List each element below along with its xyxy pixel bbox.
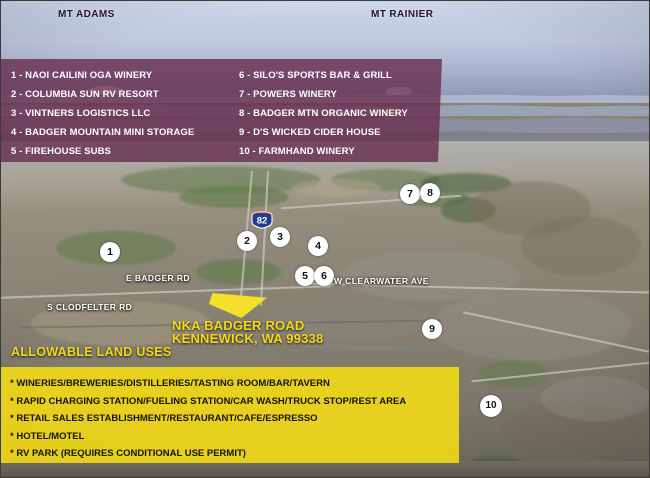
legend-panel: 1 - NAOI CAILINI OGA WINERY 2 - COLUMBIA… <box>1 59 442 162</box>
svg-text:82: 82 <box>257 216 268 227</box>
road-label-w-clearwater-ave: W CLEARWATER AVE <box>334 276 429 286</box>
legend-item: 5 - FIREHOUSE SUBS <box>11 143 239 160</box>
road-label-e-badger-rd: E BADGER RD <box>126 273 190 283</box>
legend-item: 8 - BADGER MTN ORGANIC WINERY <box>239 105 439 122</box>
map-marker-10[interactable]: 10 <box>480 395 502 417</box>
map-marker-3[interactable]: 3 <box>270 227 290 247</box>
legend-column-left: 1 - NAOI CAILINI OGA WINERY 2 - COLUMBIA… <box>11 67 239 162</box>
land-use-item: * RETAIL SALES ESTABLISHMENT/RESTAURANT/… <box>10 411 459 428</box>
legend-column-right: 6 - SILO'S SPORTS BAR & GRILL 7 - POWERS… <box>239 67 439 162</box>
map-marker-8[interactable]: 8 <box>420 183 440 203</box>
map-marker-6[interactable]: 6 <box>314 266 334 286</box>
bottom-edge-strip <box>1 461 649 477</box>
map-marker-1[interactable]: 1 <box>100 242 120 262</box>
property-address-label: NKA BADGER ROAD KENNEWICK, WA 99338 <box>172 319 323 345</box>
legend-item: 2 - COLUMBIA SUN RV RESORT <box>11 86 239 103</box>
mt-adams-label: MT ADAMS <box>58 9 115 20</box>
map-marker-7[interactable]: 7 <box>400 184 420 204</box>
interstate-82-shield-icon: 82 <box>251 211 273 229</box>
map-marker-9[interactable]: 9 <box>422 319 442 339</box>
legend-item: 10 - FARMHAND WINERY <box>239 143 439 160</box>
legend-item: 1 - NAOI CAILINI OGA WINERY <box>11 67 239 84</box>
land-use-item: * HOTEL/MOTEL <box>10 429 459 446</box>
legend-item: 7 - POWERS WINERY <box>239 86 439 103</box>
legend-item: 3 - VINTNERS LOGISTICS LLC <box>11 105 239 122</box>
road-label-s-clodfelter-rd: S CLODFELTER RD <box>47 302 132 312</box>
map-marker-4[interactable]: 4 <box>308 236 328 256</box>
mt-rainier-label: MT RAINIER <box>371 9 433 20</box>
address-line-2: KENNEWICK, WA 99338 <box>172 332 323 345</box>
land-use-item: * RAPID CHARGING STATION/FUELING STATION… <box>10 394 459 411</box>
land-use-item: * RV PARK (REQUIRES CONDITIONAL USE PERM… <box>10 446 459 463</box>
legend-item: 4 - BADGER MOUNTAIN MINI STORAGE <box>11 124 239 141</box>
map-marker-5[interactable]: 5 <box>295 266 315 286</box>
map-graphic: MT ADAMS MT RAINIER 1 - NAOI CAILINI OGA… <box>0 0 650 478</box>
legend-item: 6 - SILO'S SPORTS BAR & GRILL <box>239 67 439 84</box>
legend-item: 9 - D'S WICKED CIDER HOUSE <box>239 124 439 141</box>
land-use-item: * WINERIES/BREWERIES/DISTILLERIES/TASTIN… <box>10 376 459 393</box>
allowable-land-uses-panel: * WINERIES/BREWERIES/DISTILLERIES/TASTIN… <box>1 367 459 463</box>
allowable-land-uses-heading: ALLOWABLE LAND USES <box>11 345 172 359</box>
map-marker-2[interactable]: 2 <box>237 231 257 251</box>
